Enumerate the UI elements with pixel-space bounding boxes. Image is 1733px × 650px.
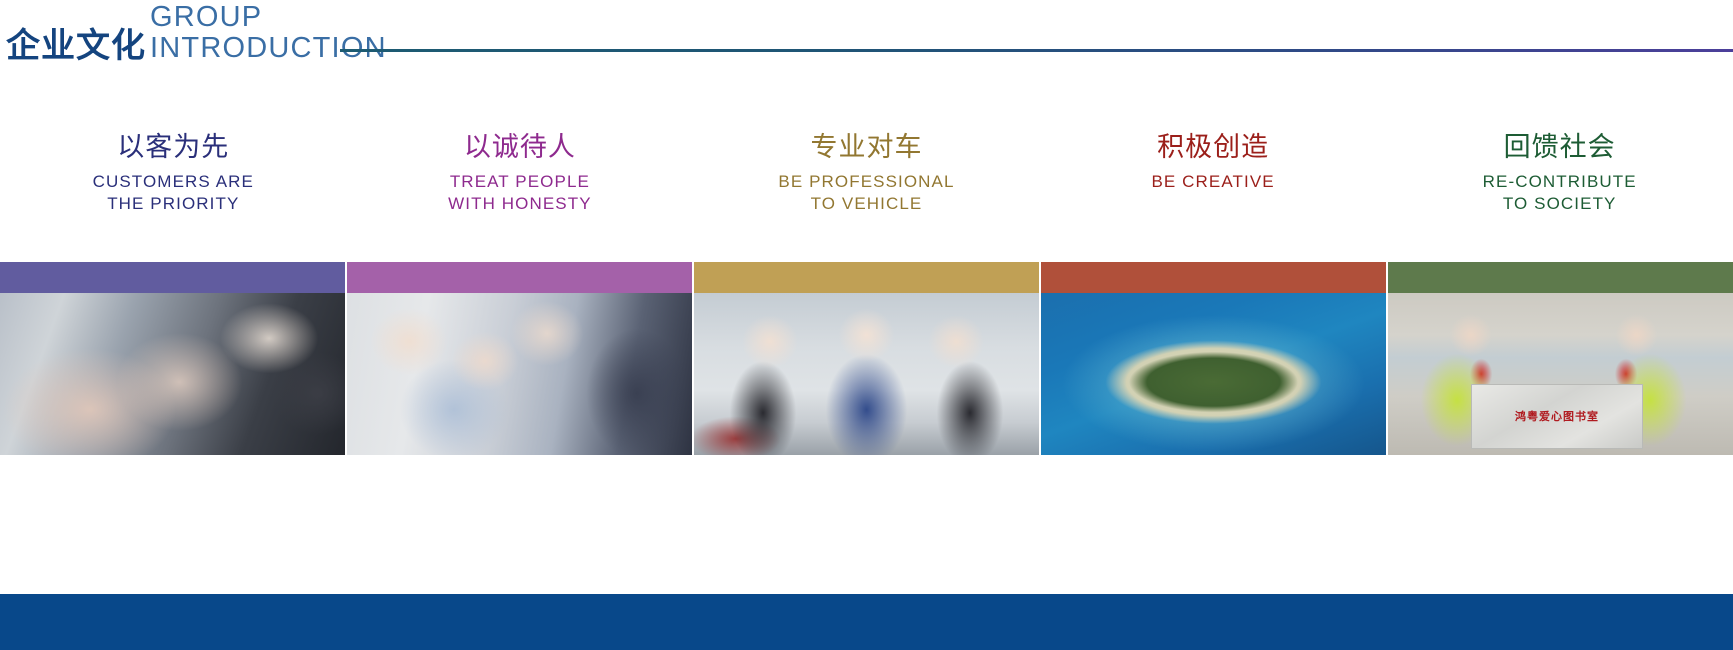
value-title-cn-2: 以诚待人 <box>347 132 694 164</box>
value-subtitle-en-3: BE PROFESSIONAL TO VEHICLE <box>693 171 1040 214</box>
value-title-cn-3: 专业对车 <box>693 132 1040 164</box>
value-subtitle-en-4: BE CREATIVE <box>1040 171 1387 193</box>
color-bar-strip <box>0 262 1733 293</box>
core-values-row: 以客为先 CUSTOMERS ARE THE PRIORITY 以诚待人 TRE… <box>0 132 1733 242</box>
color-bar-4 <box>1041 262 1388 293</box>
value-subtitle-en-2-line1: TREAT PEOPLE <box>347 171 694 193</box>
photo-students-donation-plaque: 鸿粤爱心图书室 <box>1388 293 1733 455</box>
footer-bar <box>0 594 1733 650</box>
page-title-cn: 企业文化 <box>6 18 146 67</box>
value-subtitle-en-1-line2: THE PRIORITY <box>0 193 347 215</box>
value-title-cn-1: 以客为先 <box>0 132 347 164</box>
value-subtitle-en-5-line1: RE-CONTRIBUTE <box>1386 171 1733 193</box>
value-column-customers-first: 以客为先 CUSTOMERS ARE THE PRIORITY <box>0 132 347 242</box>
value-subtitle-en-1-line1: CUSTOMERS ARE <box>0 171 347 193</box>
photo-image-2 <box>347 293 692 455</box>
value-column-society: 回馈社会 RE-CONTRIBUTE TO SOCIETY <box>1386 132 1733 242</box>
value-subtitle-en-1: CUSTOMERS ARE THE PRIORITY <box>0 171 347 214</box>
color-bar-1 <box>0 262 347 293</box>
header-divider-rule <box>340 49 1733 52</box>
value-subtitle-en-3-line2: TO VEHICLE <box>693 193 1040 215</box>
photo-family-handshake <box>347 293 694 455</box>
value-title-cn-4: 积极创造 <box>1040 132 1387 164</box>
value-subtitle-en-5-line2: TO SOCIETY <box>1386 193 1733 215</box>
donation-plaque: 鸿粤爱心图书室 <box>1471 384 1644 449</box>
value-column-professional: 专业对车 BE PROFESSIONAL TO VEHICLE <box>693 132 1040 242</box>
value-subtitle-en-2-line2: WITH HONESTY <box>347 193 694 215</box>
value-column-creative: 积极创造 BE CREATIVE <box>1040 132 1387 242</box>
value-subtitle-en-5: RE-CONTRIBUTE TO SOCIETY <box>1386 171 1733 214</box>
page-header: 企业文化 GROUP INTRODUCTION <box>0 0 1733 62</box>
photo-car-shaped-island <box>1041 293 1388 455</box>
value-subtitle-en-2: TREAT PEOPLE WITH HONESTY <box>347 171 694 214</box>
photo-image-3 <box>694 293 1039 455</box>
page-title-en-line1: GROUP <box>150 0 387 33</box>
value-subtitle-en-3-line1: BE PROFESSIONAL <box>693 171 1040 193</box>
value-column-honesty: 以诚待人 TREAT PEOPLE WITH HONESTY <box>347 132 694 242</box>
donation-plaque-text: 鸿粤爱心图书室 <box>1515 408 1599 424</box>
photo-image-4 <box>1041 293 1386 455</box>
photo-service-team-showroom <box>694 293 1041 455</box>
value-subtitle-en-4-line1: BE CREATIVE <box>1040 171 1387 193</box>
page-title-en: GROUP INTRODUCTION <box>150 0 387 64</box>
color-bar-5 <box>1388 262 1733 293</box>
photo-image-1 <box>0 293 345 455</box>
color-bar-3 <box>694 262 1041 293</box>
value-title-cn-5: 回馈社会 <box>1386 132 1733 164</box>
photo-strip: 鸿粤爱心图书室 <box>0 293 1733 455</box>
color-bar-2 <box>347 262 694 293</box>
photo-test-drive-couple <box>0 293 347 455</box>
